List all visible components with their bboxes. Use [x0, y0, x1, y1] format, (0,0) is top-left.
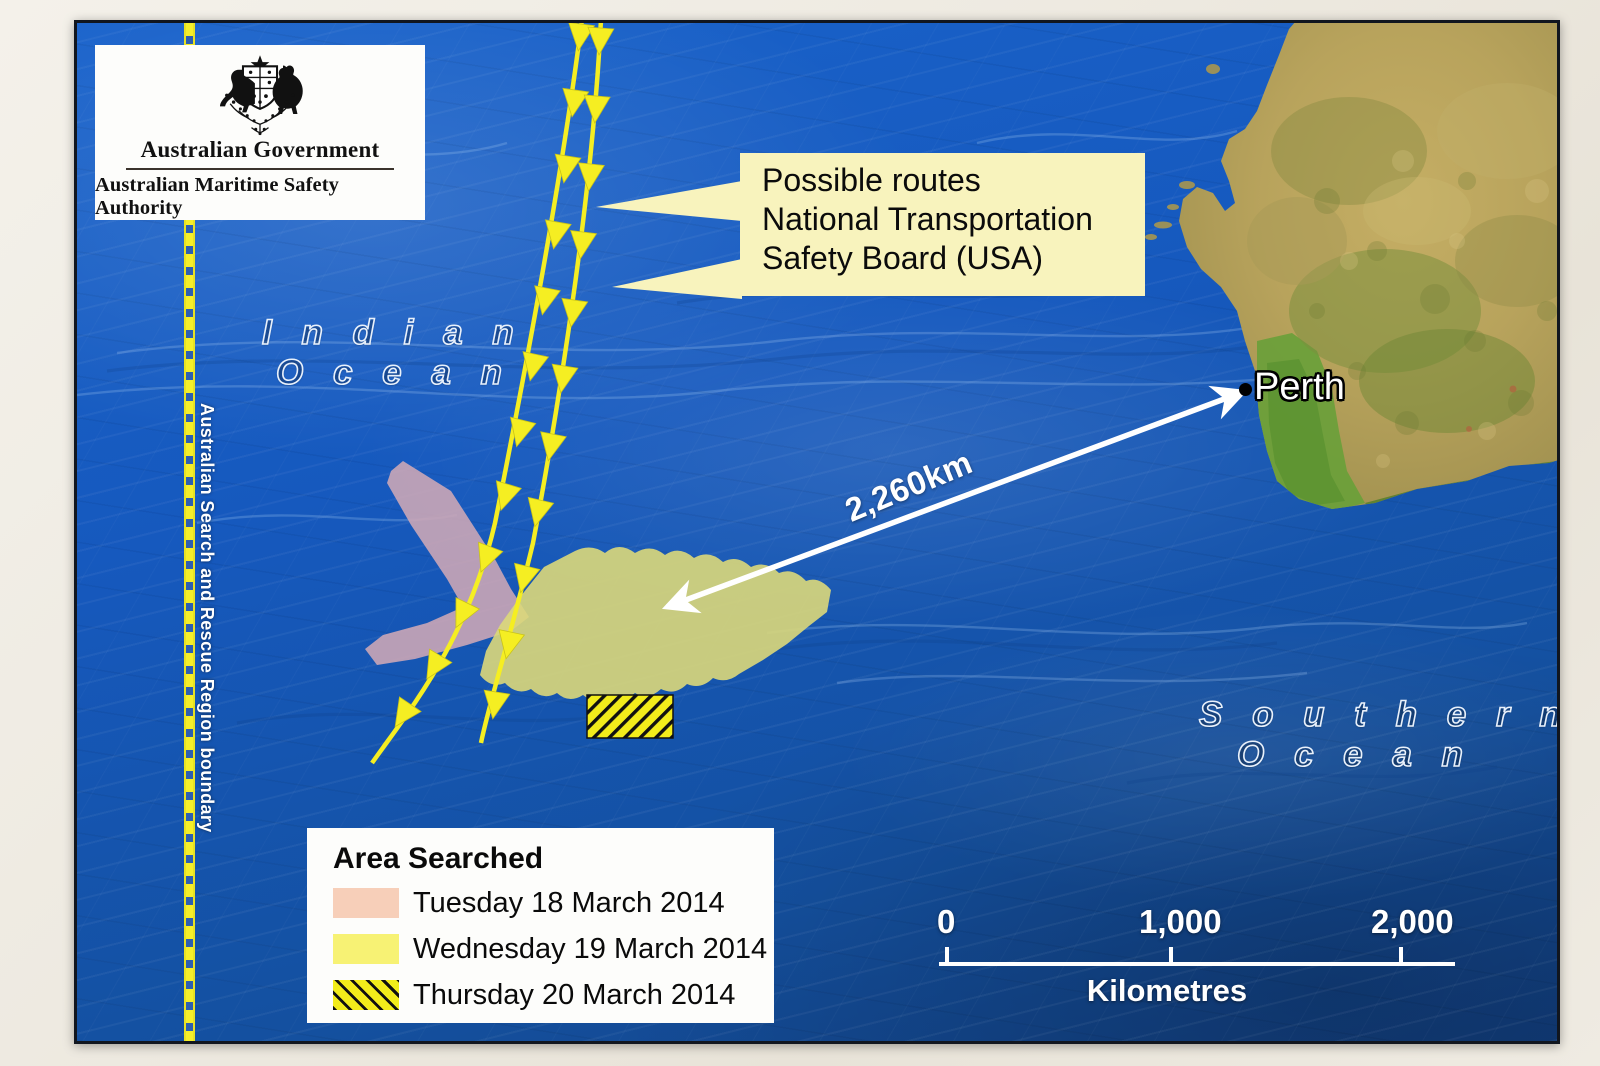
legend-row-thursday: Thursday 20 March 2014: [333, 972, 774, 1018]
commonwealth-coat-of-arms-icon: [200, 51, 320, 136]
scale-bar: 0 1,000 2,000 Kilometres: [937, 903, 1457, 1009]
callout-line-1: Possible routes: [762, 161, 1145, 200]
logo-divider: [126, 168, 394, 170]
legend-row-wednesday: Wednesday 19 March 2014: [333, 926, 774, 972]
photo-paper-background: Australian Search and Rescue Region boun…: [0, 0, 1600, 1066]
legend-title: Area Searched: [333, 842, 774, 876]
amsa-logo-box: Australian Government Australian Maritim…: [95, 45, 425, 220]
perth-city-dot: [1239, 383, 1252, 396]
scale-tick-1000: 1,000: [1139, 903, 1222, 941]
legend-swatch-wednesday: [333, 934, 399, 964]
legend-box: Area Searched Tuesday 18 March 2014 Wedn…: [307, 828, 774, 1023]
legend-swatch-thursday: [333, 980, 399, 1010]
scale-caption: Kilometres: [937, 973, 1457, 1009]
callout-possible-routes: Possible routes National Transportation …: [740, 153, 1145, 296]
legend-label-wednesday: Wednesday 19 March 2014: [413, 933, 767, 966]
callout-line-3: Safety Board (USA): [762, 239, 1145, 278]
scale-bar-line: [937, 945, 1457, 967]
perth-city-label: Perth: [1254, 366, 1345, 409]
scale-numbers: 0 1,000 2,000: [937, 903, 1457, 943]
map-plate: Australian Search and Rescue Region boun…: [74, 20, 1560, 1044]
scale-tick-2000: 2,000: [1371, 903, 1454, 941]
logo-authority-line: Australian Maritime Safety Authority: [95, 174, 425, 220]
legend-label-tuesday: Tuesday 18 March 2014: [413, 887, 725, 920]
logo-government-line: Australian Government: [141, 137, 380, 163]
legend-row-tuesday: Tuesday 18 March 2014: [333, 880, 774, 926]
legend-label-thursday: Thursday 20 March 2014: [413, 979, 735, 1012]
scale-tick-0: 0: [937, 903, 955, 941]
legend-swatch-tuesday: [333, 888, 399, 918]
callout-line-2: National Transportation: [762, 200, 1145, 239]
